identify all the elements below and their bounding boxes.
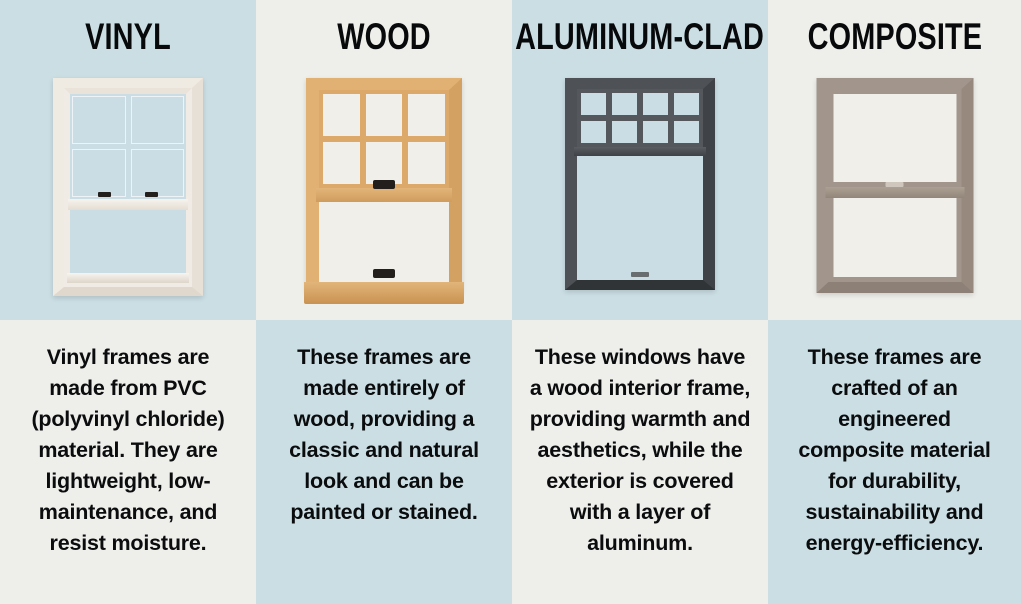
column-composite-header: COMPOSITE: [768, 0, 1021, 320]
column-wood-header: WOOD: [256, 0, 512, 320]
column-composite-caption-cell: These frames are crafted of an engineere…: [768, 320, 1021, 604]
composite-window-illustration: [816, 78, 973, 293]
aluminum-clad-window-illustration: [565, 78, 715, 290]
column-vinyl-header: VINYL: [0, 0, 256, 320]
caption-aluminum-clad: These windows have a wood interior frame…: [529, 342, 751, 604]
window-materials-infographic: VINYL WOOD: [0, 0, 1021, 604]
column-vinyl-caption-cell: Vinyl frames are made from PVC (polyviny…: [0, 320, 256, 604]
column-wood-caption-cell: These frames are made entirely of wood, …: [256, 320, 512, 604]
vinyl-window-illustration: [53, 78, 203, 296]
wood-window-illustration: [306, 78, 462, 292]
caption-wood: These frames are made entirely of wood, …: [273, 342, 495, 604]
column-aluminum-clad-header: ALUMINUM-CLAD: [512, 0, 768, 320]
column-title-vinyl: VINYL: [85, 16, 171, 58]
column-title-aluminum-clad: ALUMINUM-CLAD: [516, 16, 765, 58]
column-aluminum-clad-caption-cell: These windows have a wood interior frame…: [512, 320, 768, 604]
caption-vinyl: Vinyl frames are made from PVC (polyviny…: [17, 342, 239, 604]
column-title-wood: WOOD: [337, 16, 431, 58]
column-title-composite: COMPOSITE: [807, 16, 982, 58]
caption-composite: These frames are crafted of an engineere…: [784, 342, 1006, 604]
